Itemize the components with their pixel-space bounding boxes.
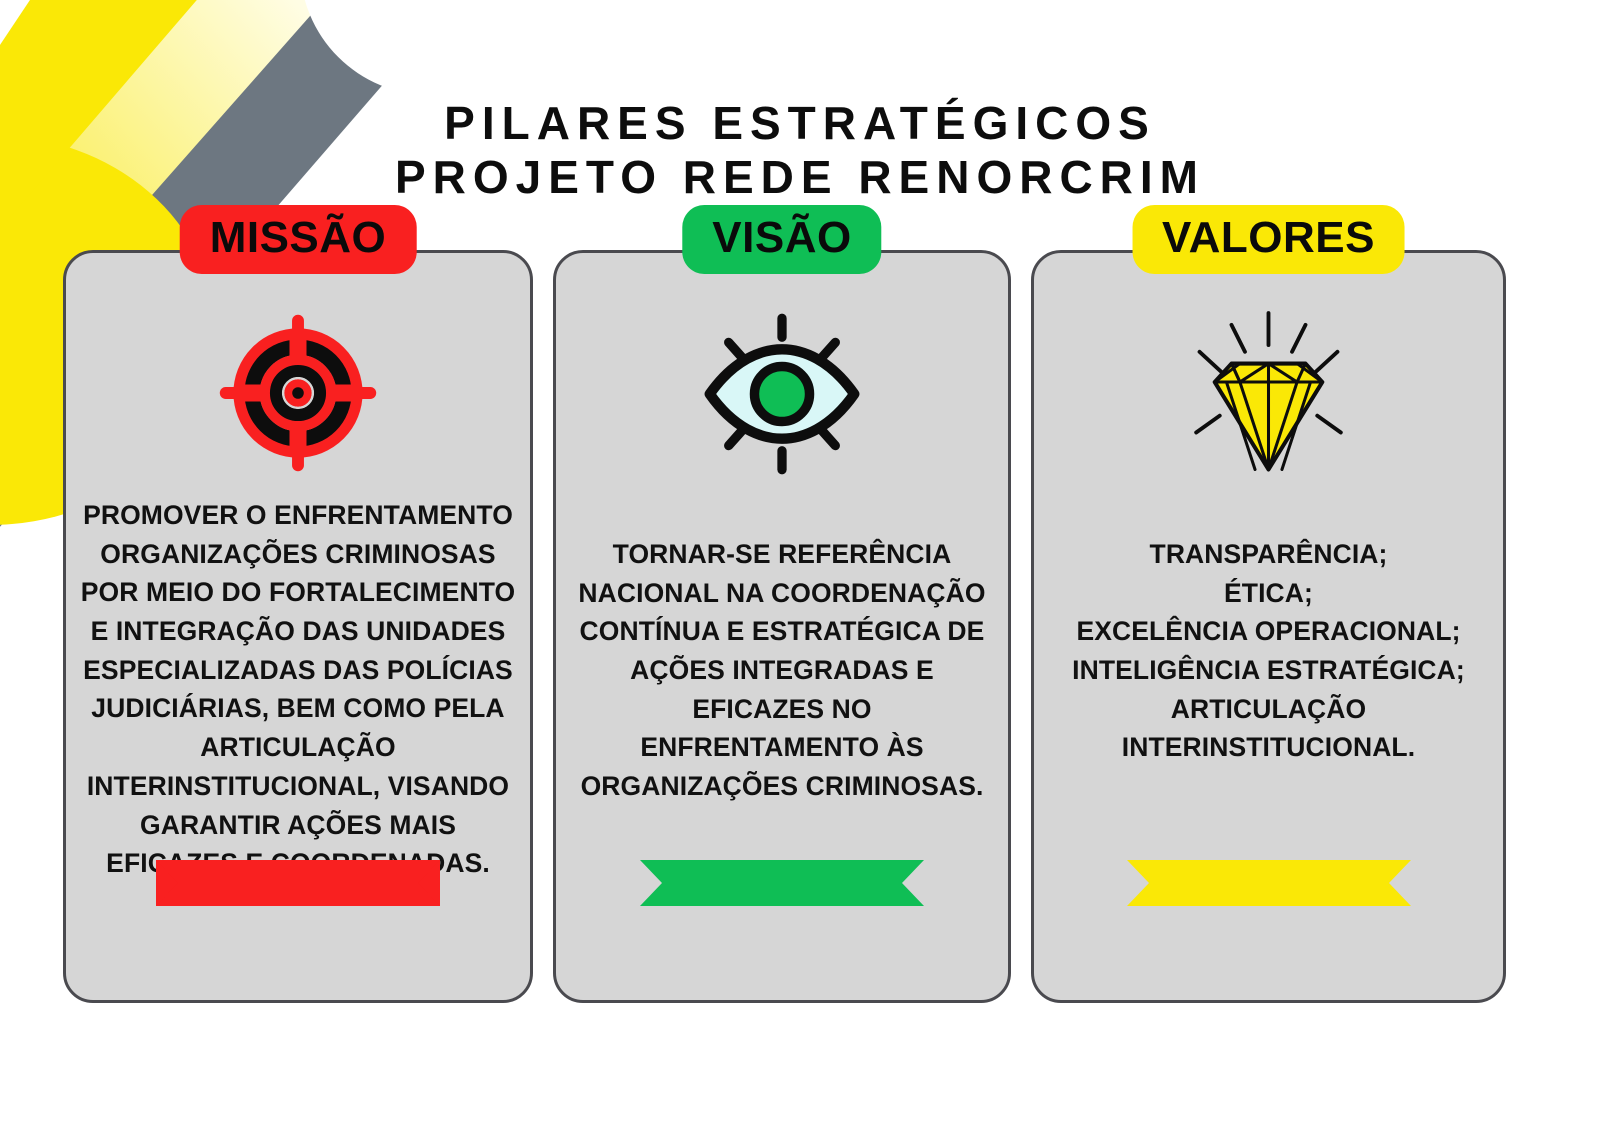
diamond-icon <box>1176 308 1361 483</box>
badge-missao[interactable]: MISSÃO <box>180 205 417 274</box>
card-valores[interactable]: VALORES <box>1031 250 1506 1003</box>
title-line-1: PILARES ESTRATÉGICOS <box>0 96 1600 150</box>
target-icon <box>213 308 383 478</box>
card-missao[interactable]: MISSÃO <box>63 250 533 1003</box>
body-text-missao: PROMOVER O ENFRENTAMENTO ORGANIZAÇÕES CR… <box>66 496 530 883</box>
badge-visao[interactable]: VISÃO <box>682 205 881 274</box>
infographic-canvas: PILARES ESTRATÉGICOS PROJETO REDE RENORC… <box>0 0 1600 1131</box>
title-line-2: PROJETO REDE RENORCRIM <box>0 150 1600 204</box>
icon-wrap-valores <box>1034 308 1503 483</box>
page-title: PILARES ESTRATÉGICOS PROJETO REDE RENORC… <box>0 96 1600 205</box>
icon-wrap-visao <box>556 308 1008 480</box>
icon-wrap-missao <box>66 308 530 478</box>
card-visao[interactable]: VISÃO TORNAR-SE <box>553 250 1011 1003</box>
eye-icon <box>696 308 868 480</box>
ribbon-missao <box>156 860 440 906</box>
body-text-valores: TRANSPARÊNCIA; ÉTICA; EXCELÊNCIA OPERACI… <box>1034 535 1503 767</box>
ribbon-valores <box>1127 860 1411 906</box>
badge-valores[interactable]: VALORES <box>1132 205 1405 274</box>
body-text-visao: TORNAR-SE REFERÊNCIA NACIONAL NA COORDEN… <box>556 535 1008 806</box>
ribbon-visao <box>640 860 924 906</box>
